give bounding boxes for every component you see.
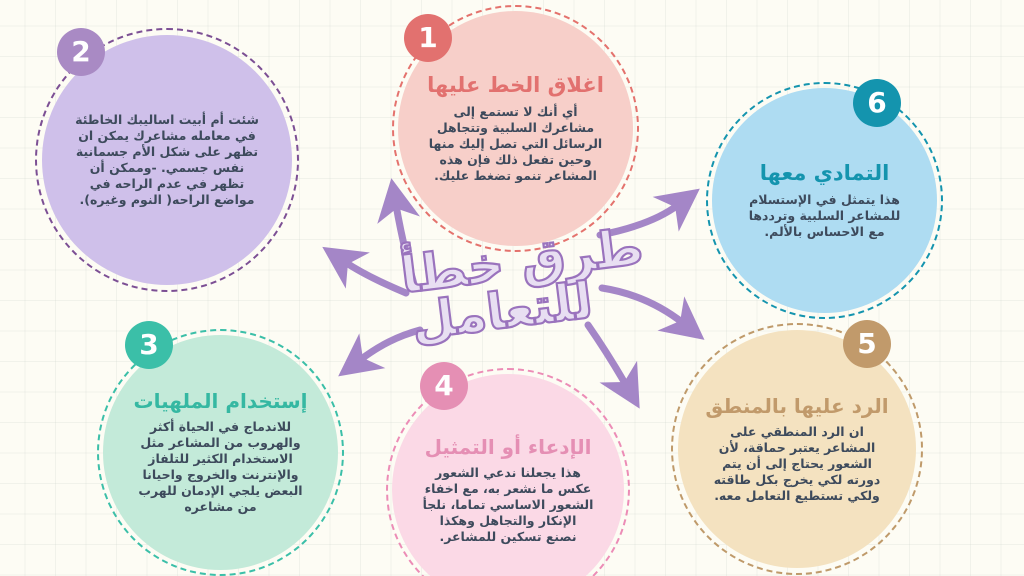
node-badge-1[interactable]: 1 xyxy=(404,14,452,62)
node-title-5: الرد عليها بالمنطق xyxy=(705,395,888,418)
node-circle-5[interactable]: الرد عليها بالمنطق ان الرد المنطقي على ا… xyxy=(678,330,916,568)
node-badge-5[interactable]: 5 xyxy=(843,320,891,368)
node-body-6: هذا يتمثل في الإستسلام للمشاعر السلبية و… xyxy=(741,192,908,240)
arrow-up-right xyxy=(600,205,678,235)
node-badge-3[interactable]: 3 xyxy=(125,321,173,369)
node-circle-4[interactable]: الإدعاء أو التمثيل هذا يجعلنا ندعي الشعو… xyxy=(392,374,624,576)
arrow-down-left xyxy=(360,330,420,360)
node-badge-4[interactable]: 4 xyxy=(420,362,468,410)
node-title-6: التمادي معها xyxy=(760,161,890,185)
node-title-3: إستخدام الملهيات xyxy=(133,390,307,413)
arrow-down-right xyxy=(602,288,683,323)
node-body-1: أي أنك لا تستمع إلى مشاعرك السلبية وتتجا… xyxy=(429,104,603,184)
node-badge-2[interactable]: 2 xyxy=(57,28,105,76)
node-title-1: اغلاق الخط عليها xyxy=(427,73,604,97)
node-body-4: هذا يجعلنا ندعي الشعور عكس ما نشعر به، م… xyxy=(422,465,594,545)
node-badge-6[interactable]: 6 xyxy=(853,79,901,127)
node-circle-3[interactable]: إستخدام الملهيات للاندماج في الحياة أكثر… xyxy=(103,335,338,570)
arrow-left xyxy=(345,262,406,293)
arrow-up-left xyxy=(396,205,415,288)
title-line-2: للتعامل xyxy=(408,271,596,351)
arrow-down xyxy=(588,325,626,385)
node-body-3: للاندماج في الحياة أكثر والهروب من المشا… xyxy=(134,419,308,515)
node-body-2: شئت أم أبيت اساليبك الخاطئة في معامله مش… xyxy=(75,112,260,208)
infographic-canvas: طرق خطأ للتعامل اغلاق الخط عليها أي أنك … xyxy=(0,0,1024,576)
node-body-5: ان الرد المنطقي على المشاعر يعتبر حماقة،… xyxy=(709,424,885,504)
node-circle-6[interactable]: التمادي معها هذا يتمثل في الإستسلام للمش… xyxy=(712,88,937,313)
node-title-4: الإدعاء أو التمثيل xyxy=(425,436,592,459)
